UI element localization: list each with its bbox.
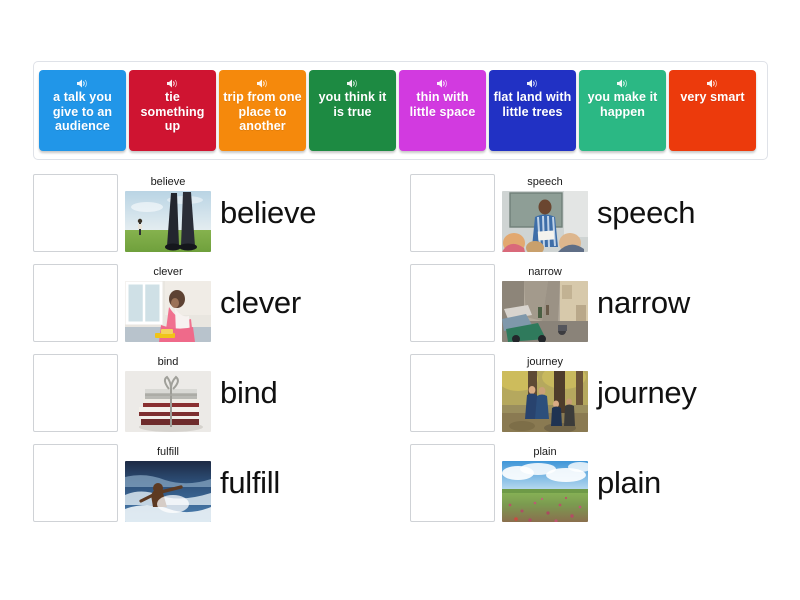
match-row: journey	[410, 348, 800, 438]
match-column-left: believe	[0, 168, 400, 528]
answer-tile-7[interactable]: very smart	[669, 70, 756, 151]
answer-tile-3[interactable]: you think it is true	[309, 70, 396, 151]
drop-zone-fulfill[interactable]	[33, 444, 118, 522]
answer-tile-label: tie something up	[129, 90, 216, 134]
prompt-speech: speech	[502, 174, 588, 252]
match-row: narrow	[410, 258, 800, 348]
prompt-plain: plain	[502, 444, 588, 522]
answer-tile-label: flat land with little trees	[489, 90, 576, 119]
word-label: speech	[597, 196, 695, 230]
drop-zone-journey[interactable]	[410, 354, 495, 432]
image-caption: speech	[527, 176, 562, 188]
word-label: narrow	[597, 286, 690, 320]
answer-tile-2[interactable]: trip from one place to another	[219, 70, 306, 151]
word-label: believe	[220, 196, 316, 230]
prompt-clever: clever	[125, 264, 211, 342]
match-row: clever	[33, 258, 400, 348]
speaker-icon[interactable]	[346, 76, 359, 87]
speaker-icon[interactable]	[166, 76, 179, 87]
image-caption: fulfill	[157, 446, 179, 458]
drop-zone-clever[interactable]	[33, 264, 118, 342]
word-label: fulfill	[220, 466, 280, 500]
answer-tile-4[interactable]: thin with little space	[399, 70, 486, 151]
answer-tile-1[interactable]: tie something up	[129, 70, 216, 151]
answer-tile-6[interactable]: you make it happen	[579, 70, 666, 151]
image-flower-meadow-sky	[502, 461, 588, 522]
image-boy-presenting-class	[502, 191, 588, 252]
match-row: plain	[410, 438, 800, 528]
speaker-icon[interactable]	[76, 76, 89, 87]
image-girl-puzzle	[125, 281, 211, 342]
image-caption: plain	[533, 446, 556, 458]
match-row: believe	[33, 168, 400, 258]
word-label: plain	[597, 466, 661, 500]
match-up-activity: a talk you give to an audience tie somet…	[0, 0, 800, 600]
prompt-bind: bind	[125, 354, 211, 432]
match-column-right: speech	[400, 168, 800, 528]
drop-zone-believe[interactable]	[33, 174, 118, 252]
speaker-icon[interactable]	[526, 76, 539, 87]
speaker-icon[interactable]	[256, 76, 269, 87]
word-label: clever	[220, 286, 301, 320]
prompt-narrow: narrow	[502, 264, 588, 342]
image-family-walking-forest	[502, 371, 588, 432]
answer-tile-0[interactable]: a talk you give to an audience	[39, 70, 126, 151]
image-narrow-street-cars	[502, 281, 588, 342]
image-caption: narrow	[528, 266, 562, 278]
image-child-ocean	[125, 461, 211, 522]
match-row: speech	[410, 168, 800, 258]
answer-tile-label: you think it is true	[309, 90, 396, 119]
drop-zone-bind[interactable]	[33, 354, 118, 432]
answer-tile-label: very smart	[677, 90, 747, 105]
match-row: bind	[33, 348, 400, 438]
word-label: bind	[220, 376, 277, 410]
word-label: journey	[597, 376, 697, 410]
drop-zone-speech[interactable]	[410, 174, 495, 252]
answer-tile-label: a talk you give to an audience	[39, 90, 126, 134]
prompt-believe: believe	[125, 174, 211, 252]
answer-tile-label: you make it happen	[579, 90, 666, 119]
speaker-icon[interactable]	[706, 76, 719, 87]
image-caption: believe	[151, 176, 186, 188]
drop-zone-narrow[interactable]	[410, 264, 495, 342]
image-caption: clever	[153, 266, 182, 278]
drop-zone-plain[interactable]	[410, 444, 495, 522]
speaker-icon[interactable]	[436, 76, 449, 87]
speaker-icon[interactable]	[616, 76, 629, 87]
answer-tile-5[interactable]: flat land with little trees	[489, 70, 576, 151]
image-tied-books	[125, 371, 211, 432]
match-row: fulfill	[33, 438, 400, 528]
match-rows: believe	[0, 168, 800, 528]
image-caption: bind	[158, 356, 179, 368]
prompt-fulfill: fulfill	[125, 444, 211, 522]
image-man-boots-field	[125, 191, 211, 252]
answer-tile-label: thin with little space	[399, 90, 486, 119]
prompt-journey: journey	[502, 354, 588, 432]
answer-tile-tray: a talk you give to an audience tie somet…	[33, 61, 768, 160]
image-caption: journey	[527, 356, 563, 368]
answer-tile-label: trip from one place to another	[219, 90, 306, 134]
